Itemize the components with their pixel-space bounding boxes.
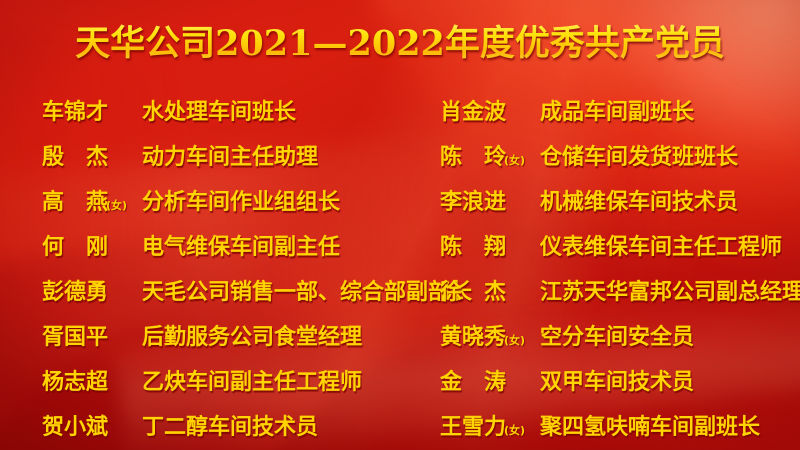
- honoree-row: 贺小斌丁二醇车间技术员: [42, 405, 472, 450]
- honoree-name-cell: 金 涛: [440, 360, 540, 406]
- honoree-name: 金 涛: [440, 360, 506, 405]
- honoree-name: 黄晓秀: [440, 315, 506, 360]
- honoree-name: 陈 玲: [440, 135, 506, 180]
- honoree-name-cell: 陈 玲(女): [440, 135, 540, 183]
- honoree-row: 陈 玲(女)仓储车间发货班班长: [440, 135, 800, 180]
- honoree-name: 陈 翔: [440, 225, 506, 270]
- honoree-job-title: 后勤服务公司食堂经理: [142, 315, 362, 360]
- honoree-name: 何 刚: [42, 225, 108, 270]
- honoree-job-title: 江苏天华富邦公司副总经理: [540, 270, 800, 315]
- honoree-row: 李浪进机械维保车间技术员: [440, 180, 800, 225]
- honoree-name: 杨志超: [42, 360, 108, 405]
- honoree-name-cell: 胥国平: [42, 315, 142, 361]
- honoree-row: 金 涛双甲车间技术员: [440, 360, 800, 405]
- honoree-name-cell: 高 燕(女): [42, 180, 142, 228]
- honoree-name-cell: 杨志超: [42, 360, 142, 406]
- honoree-job-title: 动力车间主任助理: [142, 135, 318, 180]
- honoree-name-cell: 陈 翔: [440, 225, 540, 271]
- honoree-name: 肖金波: [440, 90, 506, 135]
- honoree-row: 杨志超乙炔车间副主任工程师: [42, 360, 472, 405]
- honoree-name-cell: 王雪力(女): [440, 405, 540, 450]
- poster-root: 天华公司2021—2022年度优秀共产党员 车锦才水处理车间班长殷 杰动力车间主…: [0, 0, 800, 450]
- honoree-row: 殷 杰动力车间主任助理: [42, 135, 472, 180]
- honoree-row: 彭德勇天毛公司销售一部、综合部副部长: [42, 270, 472, 315]
- honoree-row: 陈 翔仪表维保车间主任工程师: [440, 225, 800, 270]
- honoree-name-cell: 贺小斌: [42, 405, 142, 450]
- honoree-gender-marker: (女): [504, 154, 525, 167]
- honoree-name: 李浪进: [440, 180, 506, 225]
- honoree-row: 高 燕(女)分析车间作业组组长: [42, 180, 472, 225]
- honoree-name: 胥国平: [42, 315, 108, 360]
- honoree-name: 车锦才: [42, 90, 108, 135]
- honoree-name-cell: 车锦才: [42, 90, 142, 136]
- honoree-row: 肖金波成品车间副班长: [440, 90, 800, 135]
- honoree-name: 王雪力: [440, 405, 506, 450]
- honoree-columns: 车锦才水处理车间班长殷 杰动力车间主任助理高 燕(女)分析车间作业组组长何 刚电…: [0, 90, 800, 445]
- honoree-name-cell: 何 刚: [42, 225, 142, 271]
- honoree-job-title: 成品车间副班长: [540, 90, 694, 135]
- honoree-name-cell: 殷 杰: [42, 135, 142, 181]
- honoree-row: 王雪力(女)聚四氢呋喃车间副班长: [440, 405, 800, 450]
- honoree-column-right: 肖金波成品车间副班长陈 玲(女)仓储车间发货班班长李浪进机械维保车间技术员陈 翔…: [440, 90, 800, 450]
- honoree-job-title: 双甲车间技术员: [540, 360, 694, 405]
- honoree-row: 黄晓秀(女)空分车间安全员: [440, 315, 800, 360]
- honoree-gender-marker: (女): [504, 334, 525, 347]
- honoree-job-title: 机械维保车间技术员: [540, 180, 738, 225]
- honoree-name: 贺小斌: [42, 405, 108, 450]
- honoree-row: 胥国平后勤服务公司食堂经理: [42, 315, 472, 360]
- honoree-job-title: 天毛公司销售一部、综合部副部长: [142, 270, 472, 315]
- honoree-name-cell: 李浪进: [440, 180, 540, 226]
- honoree-gender-marker: (女): [106, 199, 127, 212]
- honoree-name: 殷 杰: [42, 135, 108, 180]
- honoree-row: 徐 杰江苏天华富邦公司副总经理: [440, 270, 800, 315]
- honoree-job-title: 仓储车间发货班班长: [540, 135, 738, 180]
- honoree-row: 何 刚电气维保车间副主任: [42, 225, 472, 270]
- honoree-row: 车锦才水处理车间班长: [42, 90, 472, 135]
- honoree-job-title: 丁二醇车间技术员: [142, 405, 318, 450]
- honoree-job-title: 水处理车间班长: [142, 90, 296, 135]
- page-title: 天华公司2021—2022年度优秀共产党员: [0, 15, 800, 66]
- honoree-job-title: 空分车间安全员: [540, 315, 694, 360]
- honoree-job-title: 电气维保车间副主任: [142, 225, 340, 270]
- honoree-job-title: 乙炔车间副主任工程师: [142, 360, 362, 405]
- honoree-gender-marker: (女): [504, 424, 525, 437]
- honoree-name-cell: 彭德勇: [42, 270, 142, 316]
- honoree-column-left: 车锦才水处理车间班长殷 杰动力车间主任助理高 燕(女)分析车间作业组组长何 刚电…: [42, 90, 472, 450]
- honoree-job-title: 聚四氢呋喃车间副班长: [540, 405, 760, 450]
- honoree-job-title: 仪表维保车间主任工程师: [540, 225, 782, 270]
- honoree-name-cell: 黄晓秀(女): [440, 315, 540, 363]
- honoree-name: 高 燕: [42, 180, 108, 225]
- honoree-name: 徐 杰: [440, 270, 506, 315]
- poster-content: 天华公司2021—2022年度优秀共产党员 车锦才水处理车间班长殷 杰动力车间主…: [0, 0, 800, 450]
- honoree-name-cell: 徐 杰: [440, 270, 540, 316]
- honoree-job-title: 分析车间作业组组长: [142, 180, 340, 225]
- honoree-name-cell: 肖金波: [440, 90, 540, 136]
- honoree-name: 彭德勇: [42, 270, 108, 315]
